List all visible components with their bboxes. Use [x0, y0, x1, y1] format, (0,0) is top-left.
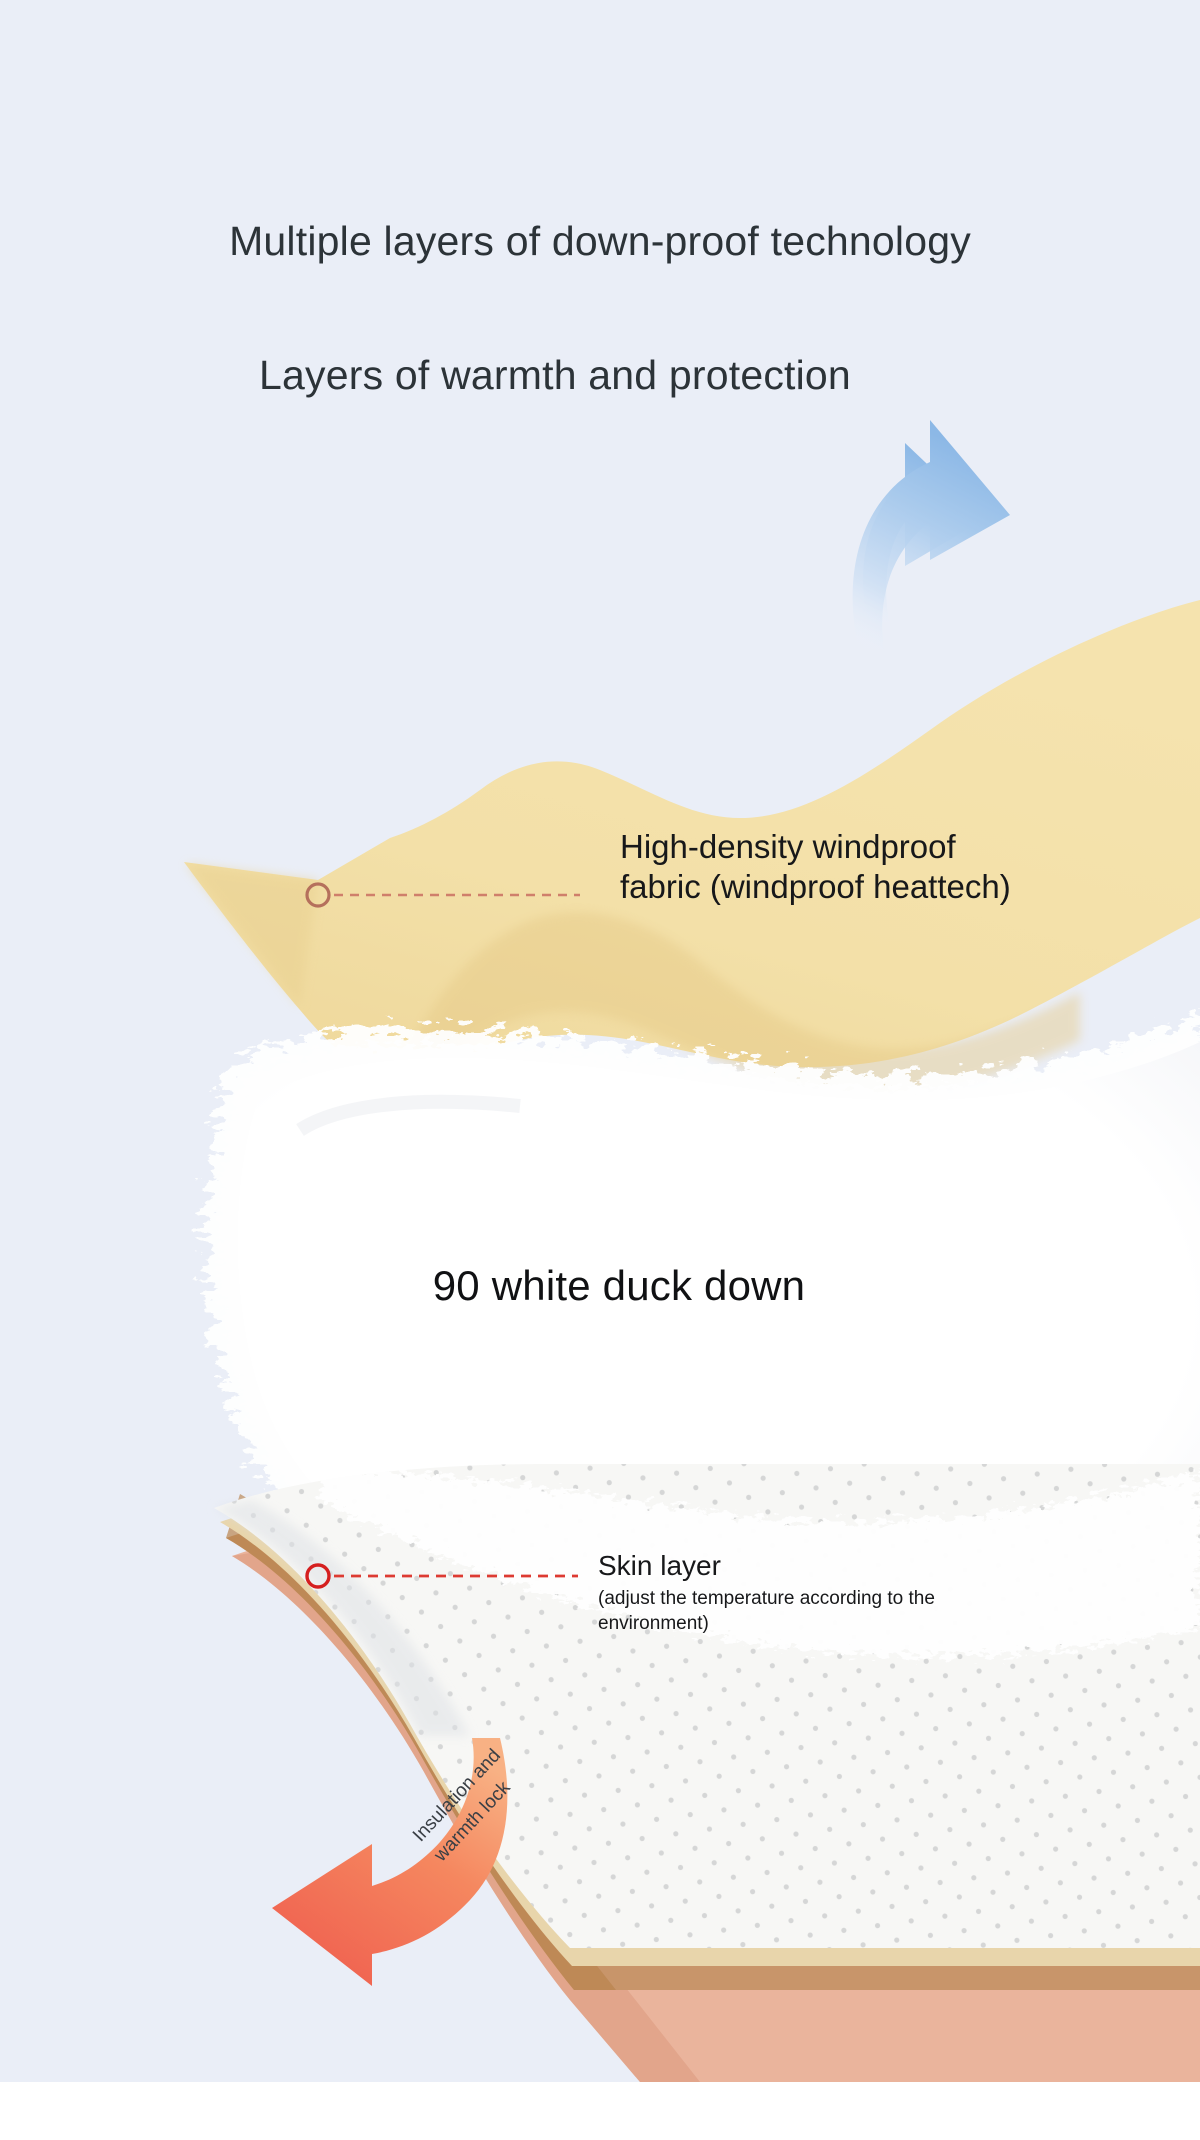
fabric-label-line-2: fabric (windproof heattech) [620, 867, 1160, 907]
page-title-line-1: Multiple layers of down-proof technology [0, 218, 1200, 265]
fabric-label-line-1: High-density windproof [620, 827, 1160, 867]
layer-diagram-illustration [0, 0, 1200, 2140]
curved-arrow-up-right-icon [853, 420, 1010, 650]
skin-label-subtitle: (adjust the temperature according to the… [598, 1586, 1078, 1636]
duck-down-label: 90 white duck down [0, 1262, 1200, 1310]
page-title-line-2: Layers of warmth and protection [0, 352, 1200, 399]
skin-label-subtitle-line-2: environment) [598, 1611, 1078, 1636]
skin-label-title: Skin layer [598, 1549, 1078, 1582]
bottom-white-strip [0, 2082, 1200, 2140]
fabric-label: High-density windproof fabric (windproof… [620, 827, 1160, 908]
skin-label-subtitle-line-1: (adjust the temperature according to the [598, 1586, 1078, 1611]
skin-label: Skin layer (adjust the temperature accor… [598, 1549, 1078, 1636]
illustration-page: Multiple layers of down-proof technology… [0, 0, 1200, 2140]
